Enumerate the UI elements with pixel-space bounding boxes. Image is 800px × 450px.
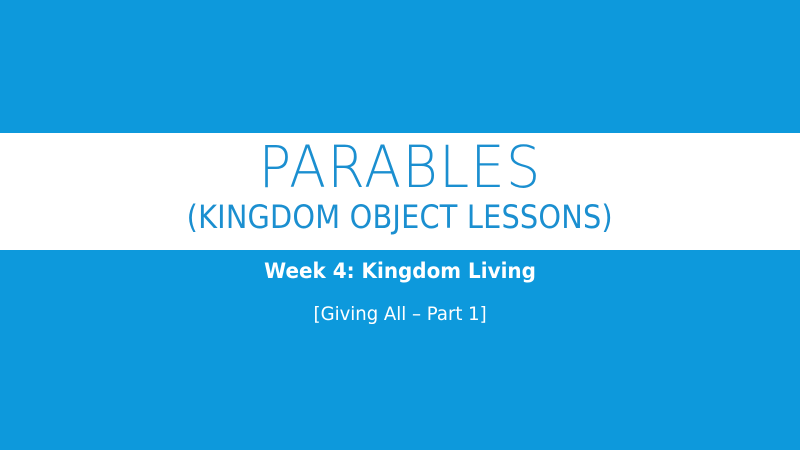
title-block: PARABLES (KINGDOM OBJECT LESSONS) bbox=[0, 133, 800, 250]
part-series-line: [Giving All – Part 1] bbox=[313, 303, 486, 326]
week-topic-line: Week 4: Kingdom Living bbox=[264, 259, 536, 284]
presentation-slide: PARABLES (KINGDOM OBJECT LESSONS) Week 4… bbox=[0, 0, 800, 450]
slide-title-parenthetical: (KINGDOM OBJECT LESSONS) bbox=[187, 200, 613, 236]
subtitle-block: Week 4: Kingdom Living [Giving All – Par… bbox=[0, 250, 800, 326]
slide-title: PARABLES bbox=[258, 137, 541, 198]
top-blue-band bbox=[0, 0, 800, 133]
